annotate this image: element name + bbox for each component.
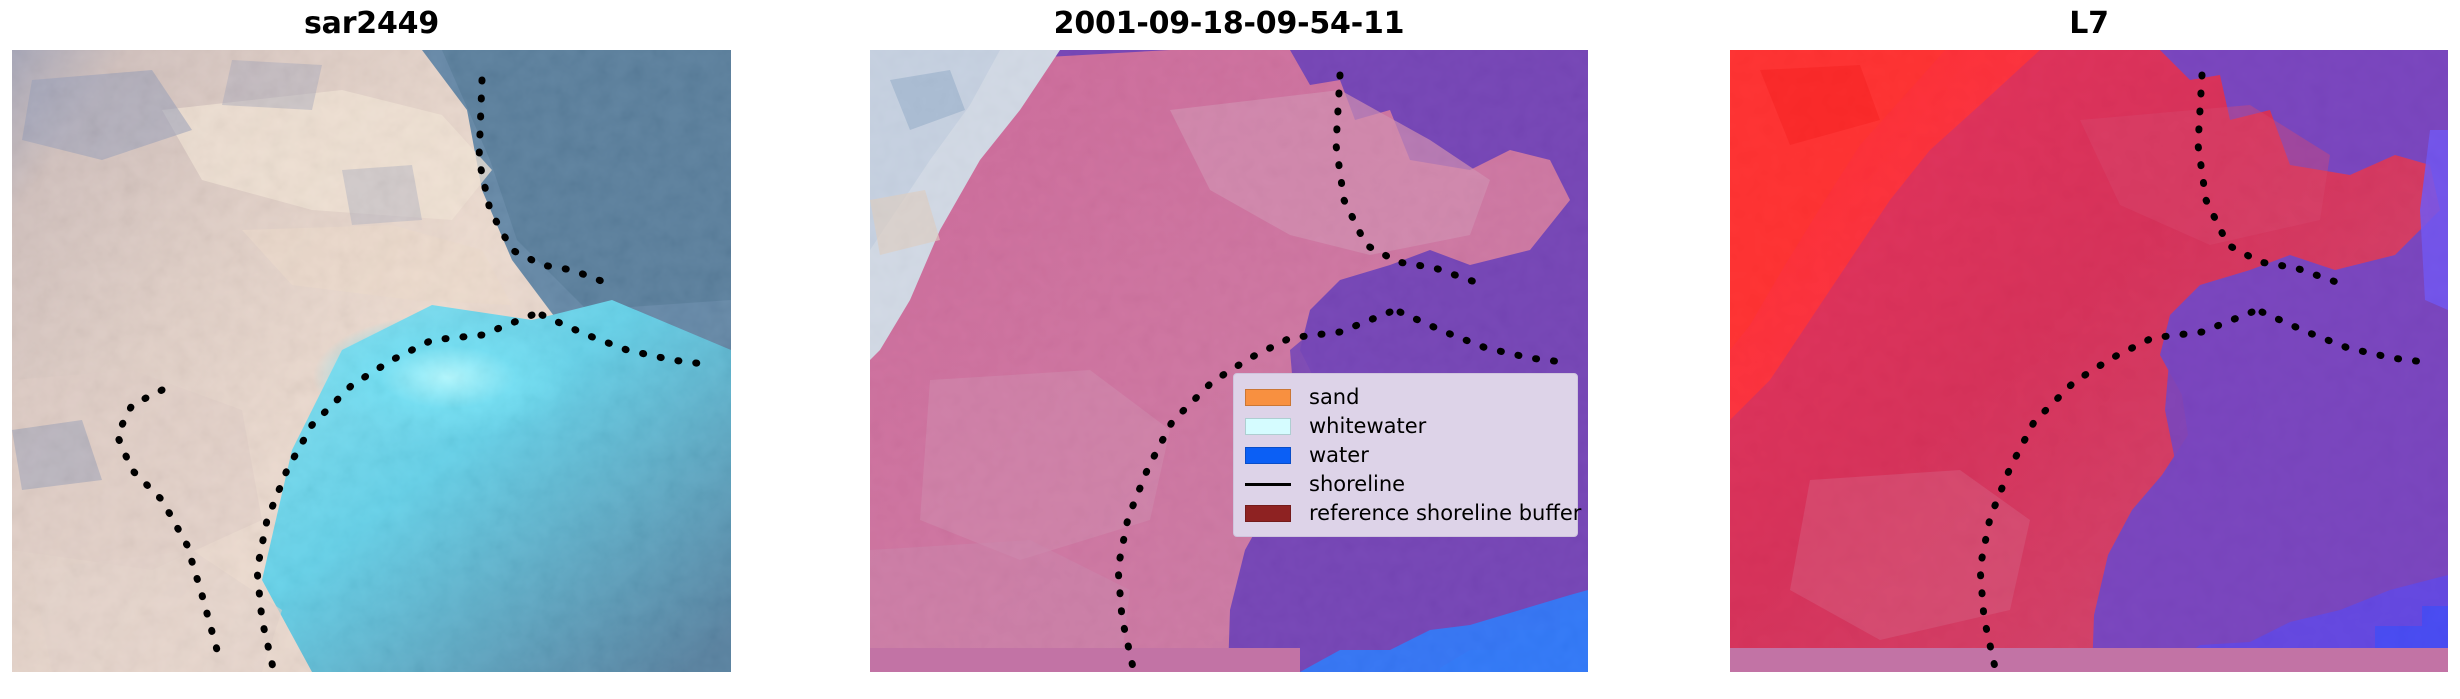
panel-title-sar: sar2449 bbox=[12, 4, 731, 44]
reference-buffer-strip bbox=[870, 648, 1300, 672]
l7-raster bbox=[1730, 50, 2448, 672]
water-swatch-icon bbox=[1245, 447, 1291, 464]
legend-label-sand: sand bbox=[1309, 387, 1359, 408]
legend-label-shoreline: shoreline bbox=[1309, 474, 1405, 495]
shoreline-line-icon bbox=[1245, 483, 1291, 486]
legend-item-shoreline: shoreline bbox=[1245, 470, 1567, 499]
sand-swatch-icon bbox=[1245, 389, 1291, 406]
reference-buffer-swatch-icon bbox=[1245, 505, 1291, 522]
figure-canvas: sar2449 bbox=[0, 0, 2460, 699]
panel-sar-rgb bbox=[12, 50, 731, 672]
whitewater-swatch-icon bbox=[1245, 418, 1291, 435]
reference-buffer-strip bbox=[1730, 648, 2448, 672]
legend-box: sand whitewater water shoreline referenc… bbox=[1233, 373, 1578, 537]
panel-l7 bbox=[1730, 50, 2448, 672]
legend-label-whitewater: whitewater bbox=[1309, 416, 1426, 437]
legend-label-water: water bbox=[1309, 445, 1369, 466]
panel-title-classified: 2001-09-18-09-54-11 bbox=[870, 4, 1588, 44]
legend-item-water: water bbox=[1245, 441, 1567, 470]
sar-rgb-raster bbox=[12, 50, 731, 672]
panel-title-l7: L7 bbox=[1730, 4, 2448, 44]
classified-raster bbox=[870, 50, 1588, 672]
panel-classified bbox=[870, 50, 1588, 672]
legend-item-whitewater: whitewater bbox=[1245, 412, 1567, 441]
legend-item-reference-shoreline-buffer: reference shoreline buffer bbox=[1245, 499, 1567, 528]
legend-label-reference-shoreline-buffer: reference shoreline buffer bbox=[1309, 503, 1581, 524]
legend-item-sand: sand bbox=[1245, 383, 1567, 412]
